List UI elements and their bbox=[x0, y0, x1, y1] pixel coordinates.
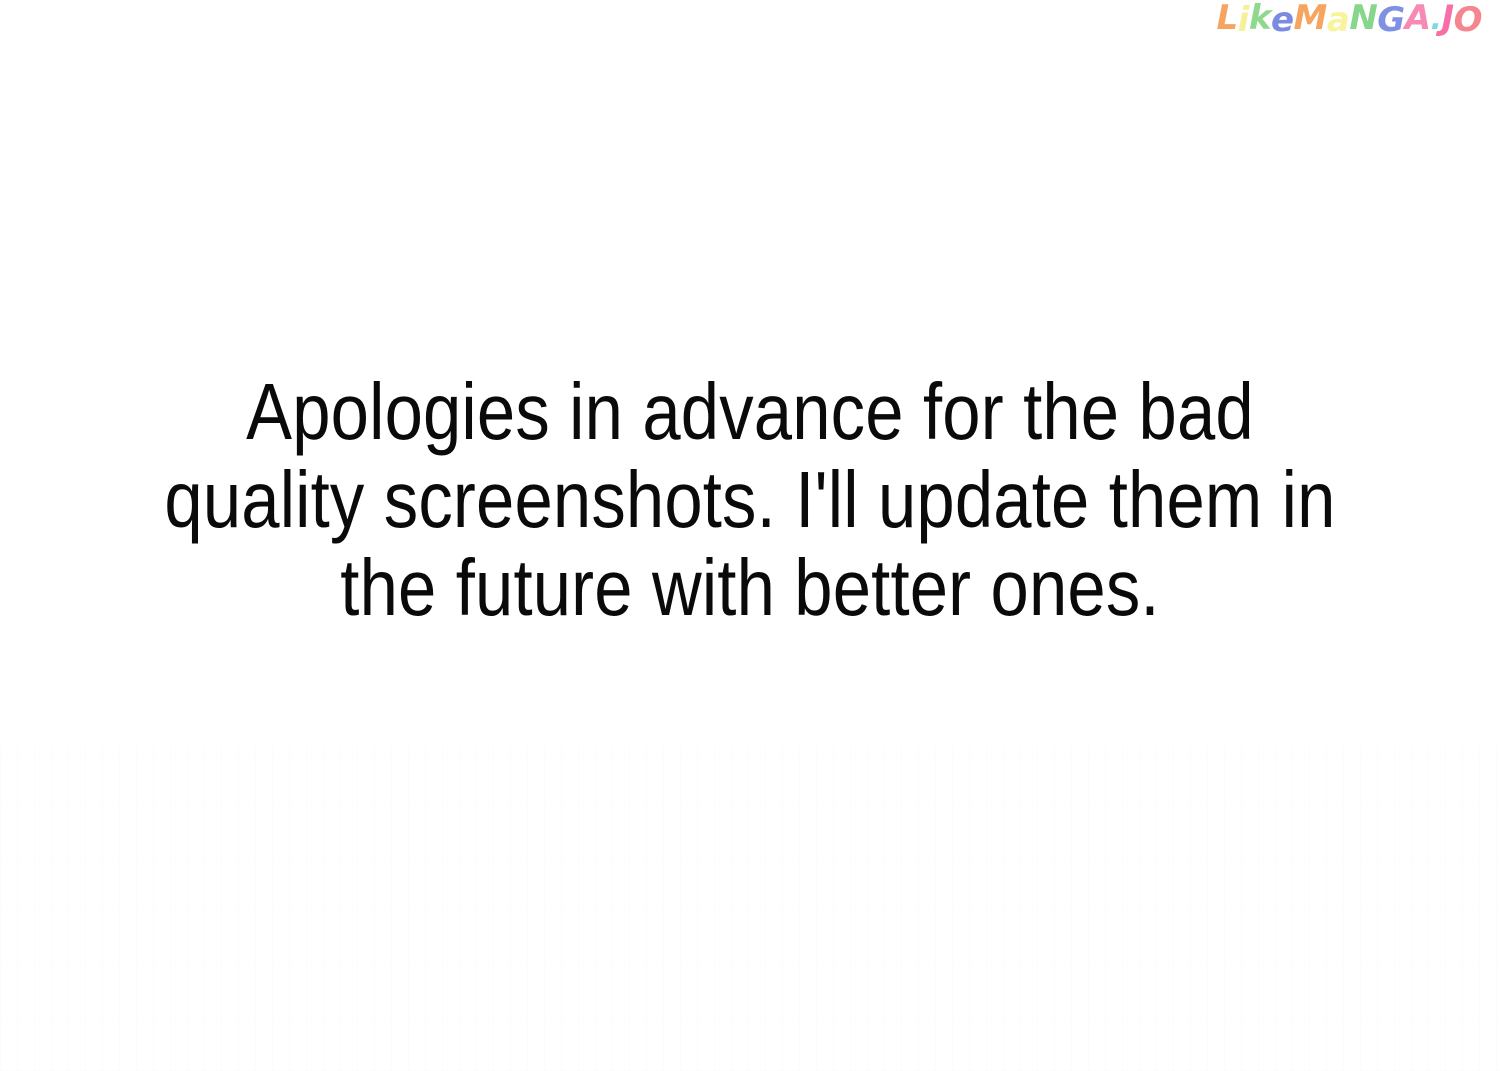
watermark-letter: a bbox=[1327, 3, 1349, 37]
caption-line-2: quality screenshots. I'll update them in bbox=[105, 456, 1395, 544]
watermark-letter: G bbox=[1377, 3, 1404, 37]
watermark-letter: M bbox=[1294, 1, 1327, 35]
caption-line-1: Apologies in advance for the bad bbox=[105, 368, 1395, 456]
site-watermark-logo: LikeMaNGA.JO bbox=[1217, 1, 1483, 37]
watermark-letter: O bbox=[1454, 3, 1482, 37]
watermark-letter: L bbox=[1217, 1, 1238, 35]
watermark-letter: J bbox=[1441, 1, 1453, 35]
watermark-letter: N bbox=[1349, 1, 1377, 35]
caption-line-3: the future with better ones. bbox=[105, 544, 1395, 632]
watermark-letter: i bbox=[1238, 3, 1249, 37]
watermark-letter: e bbox=[1271, 3, 1294, 37]
manga-page-canvas: LikeMaNGA.JO Apologies in advance for th… bbox=[0, 0, 1500, 1071]
author-note-caption: Apologies in advance for the bad quality… bbox=[0, 368, 1500, 632]
watermark-letter: A bbox=[1405, 1, 1431, 35]
watermark-letter: k bbox=[1249, 1, 1271, 35]
compression-artifact-texture bbox=[0, 745, 1500, 1071]
watermark-letter: . bbox=[1431, 5, 1442, 35]
